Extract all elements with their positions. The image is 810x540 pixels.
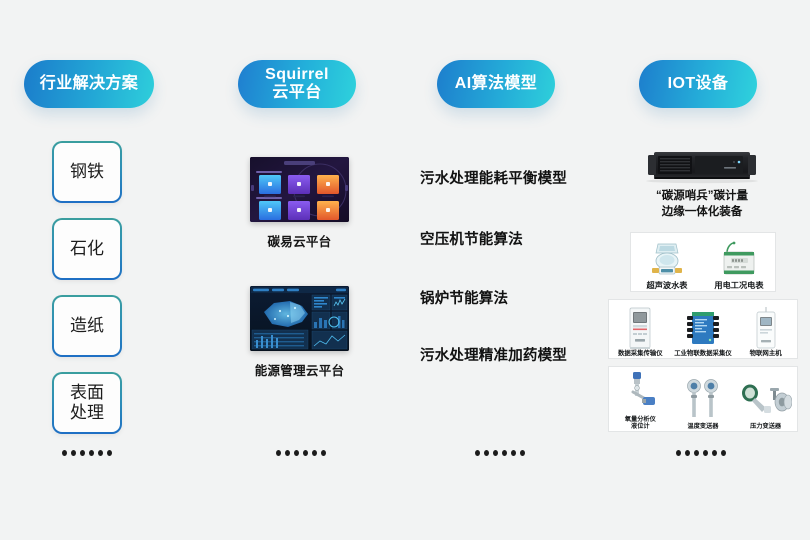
ultrasonic-water-meter-icon — [650, 241, 684, 281]
algorithm-item-wastewater-energy-balance[interactable]: 污水处理能耗平衡模型 — [420, 167, 600, 188]
dot — [89, 450, 94, 456]
dot — [712, 450, 717, 456]
platform-card-energy-management[interactable]: 能源管理云平台 — [250, 286, 349, 379]
category-pill-squirrel-cloud[interactable]: Squirrel 云平台 — [238, 60, 356, 108]
electric-meter-icon — [719, 241, 759, 281]
rack-server-appliance — [606, 148, 798, 184]
iot-card-meters[interactable]: 超声波水表 — [630, 232, 776, 292]
iot-device-industrial-iot-gateway[interactable]: 工业物联数据采集仪 — [672, 306, 734, 358]
dot — [98, 450, 103, 456]
industry-box-label: 造纸 — [70, 316, 104, 336]
dot — [493, 450, 498, 456]
iot-device-oxygen-analyzer-level-gauge[interactable]: 氧量分析仪 液位计 — [609, 370, 671, 432]
iot-device-electric-meter[interactable]: 用电工况电表 — [715, 241, 763, 291]
dot — [294, 450, 299, 456]
iot-hero-caption-line2: 边缘一体化装备 — [606, 205, 798, 221]
iot-hero-device[interactable]: “碳源哨兵”碳计量 边缘一体化装备 — [606, 148, 798, 220]
dot — [285, 450, 290, 456]
industry-box-label: 钢铁 — [70, 162, 104, 182]
industry-box-surface-treatment[interactable]: 表面 处理 — [52, 372, 122, 434]
more-dots-squirrel-cloud — [276, 450, 326, 456]
pressure-transmitter-icon — [740, 377, 792, 423]
dot — [303, 450, 308, 456]
category-pill-ai-algorithm-models[interactable]: AI算法模型 — [437, 60, 555, 108]
iot-device-label: 用电工况电表 — [714, 281, 763, 291]
iot-device-iot-host-controller[interactable]: 物联网主机 — [735, 306, 797, 358]
industry-box-papermaking[interactable]: 造纸 — [52, 295, 122, 357]
industry-box-petrochemical[interactable]: 石化 — [52, 218, 122, 280]
dot — [107, 450, 112, 456]
industry-box-steel[interactable]: 钢铁 — [52, 141, 122, 203]
iot-device-pressure-transmitter[interactable]: 压力变送器 — [735, 377, 797, 431]
iot-hero-caption-line1: “碳源哨兵”碳计量 — [606, 189, 798, 205]
dot — [276, 450, 281, 456]
iot-device-temperature-transmitter[interactable]: 温度变送器 — [672, 377, 734, 431]
carbon-cloud-dashboard-thumbnail — [250, 157, 349, 222]
dot — [484, 450, 489, 456]
iot-hero-caption: “碳源哨兵”碳计量 边缘一体化装备 — [606, 189, 798, 220]
algorithm-item-air-compressor[interactable]: 空压机节能算法 — [420, 228, 600, 249]
industry-box-label: 表面 处理 — [70, 383, 104, 422]
more-dots-industry-solutions — [62, 450, 112, 456]
iot-device-label: 压力变送器 — [750, 423, 781, 431]
dot — [520, 450, 525, 456]
platform-card-carbon-cloud[interactable]: 碳易云平台 — [250, 157, 349, 250]
dot — [676, 450, 681, 456]
dot — [511, 450, 516, 456]
iot-device-label: 超声波水表 — [647, 281, 688, 291]
iot-host-controller-icon — [753, 306, 779, 350]
pill-label-line1: AI算法模型 — [455, 75, 537, 93]
algorithm-item-boiler[interactable]: 锅炉节能算法 — [420, 287, 600, 308]
pill-label-line1: 行业解决方案 — [40, 75, 138, 93]
pill-label-line1: IOT设备 — [668, 75, 729, 93]
more-dots-ai-algorithm-models — [475, 450, 525, 456]
iot-device-label: 工业物联数据采集仪 — [674, 350, 732, 358]
iot-device-label: 氧量分析仪 液位计 — [625, 416, 656, 432]
dot — [321, 450, 326, 456]
dot — [721, 450, 726, 456]
platform-card-label: 碳易云平台 — [250, 231, 349, 250]
category-pill-iot-devices[interactable]: IOT设备 — [639, 60, 757, 108]
dot — [685, 450, 690, 456]
energy-management-dashboard-thumbnail — [250, 286, 349, 351]
iot-device-label: 数据采集传输仪 — [618, 350, 663, 358]
iot-card-sensors[interactable]: 氧量分析仪 液位计 温度 — [608, 366, 798, 432]
dot — [694, 450, 699, 456]
dot — [71, 450, 76, 456]
dot — [62, 450, 67, 456]
more-dots-iot-devices — [676, 450, 726, 456]
dot — [80, 450, 85, 456]
dot — [703, 450, 708, 456]
dot — [312, 450, 317, 456]
algorithm-item-wastewater-dosing[interactable]: 污水处理精准加药模型 — [420, 344, 600, 365]
industrial-iot-gateway-icon — [685, 306, 721, 350]
platform-card-label: 能源管理云平台 — [250, 360, 349, 379]
iot-card-collectors[interactable]: 数据采集传输仪 — [608, 299, 798, 359]
dot — [475, 450, 480, 456]
oxygen-analyzer-level-gauge-icon — [623, 370, 657, 416]
temperature-transmitter-icon — [683, 377, 723, 423]
iot-device-data-acquisition-terminal[interactable]: 数据采集传输仪 — [609, 306, 671, 358]
iot-device-ultrasonic-water-meter[interactable]: 超声波水表 — [643, 241, 691, 291]
data-acquisition-terminal-icon — [626, 306, 654, 350]
iot-device-label: 温度变送器 — [688, 423, 719, 431]
iot-device-label: 物联网主机 — [750, 350, 782, 358]
pill-label-line2: 云平台 — [272, 84, 321, 102]
category-pill-industry-solutions[interactable]: 行业解决方案 — [24, 60, 154, 108]
industry-box-label: 石化 — [70, 239, 104, 259]
dot — [502, 450, 507, 456]
diagram-canvas: 行业解决方案 Squirrel 云平台 AI算法模型 IOT设备 钢铁 石化 造… — [0, 0, 810, 540]
pill-label-line1: Squirrel — [265, 66, 329, 84]
